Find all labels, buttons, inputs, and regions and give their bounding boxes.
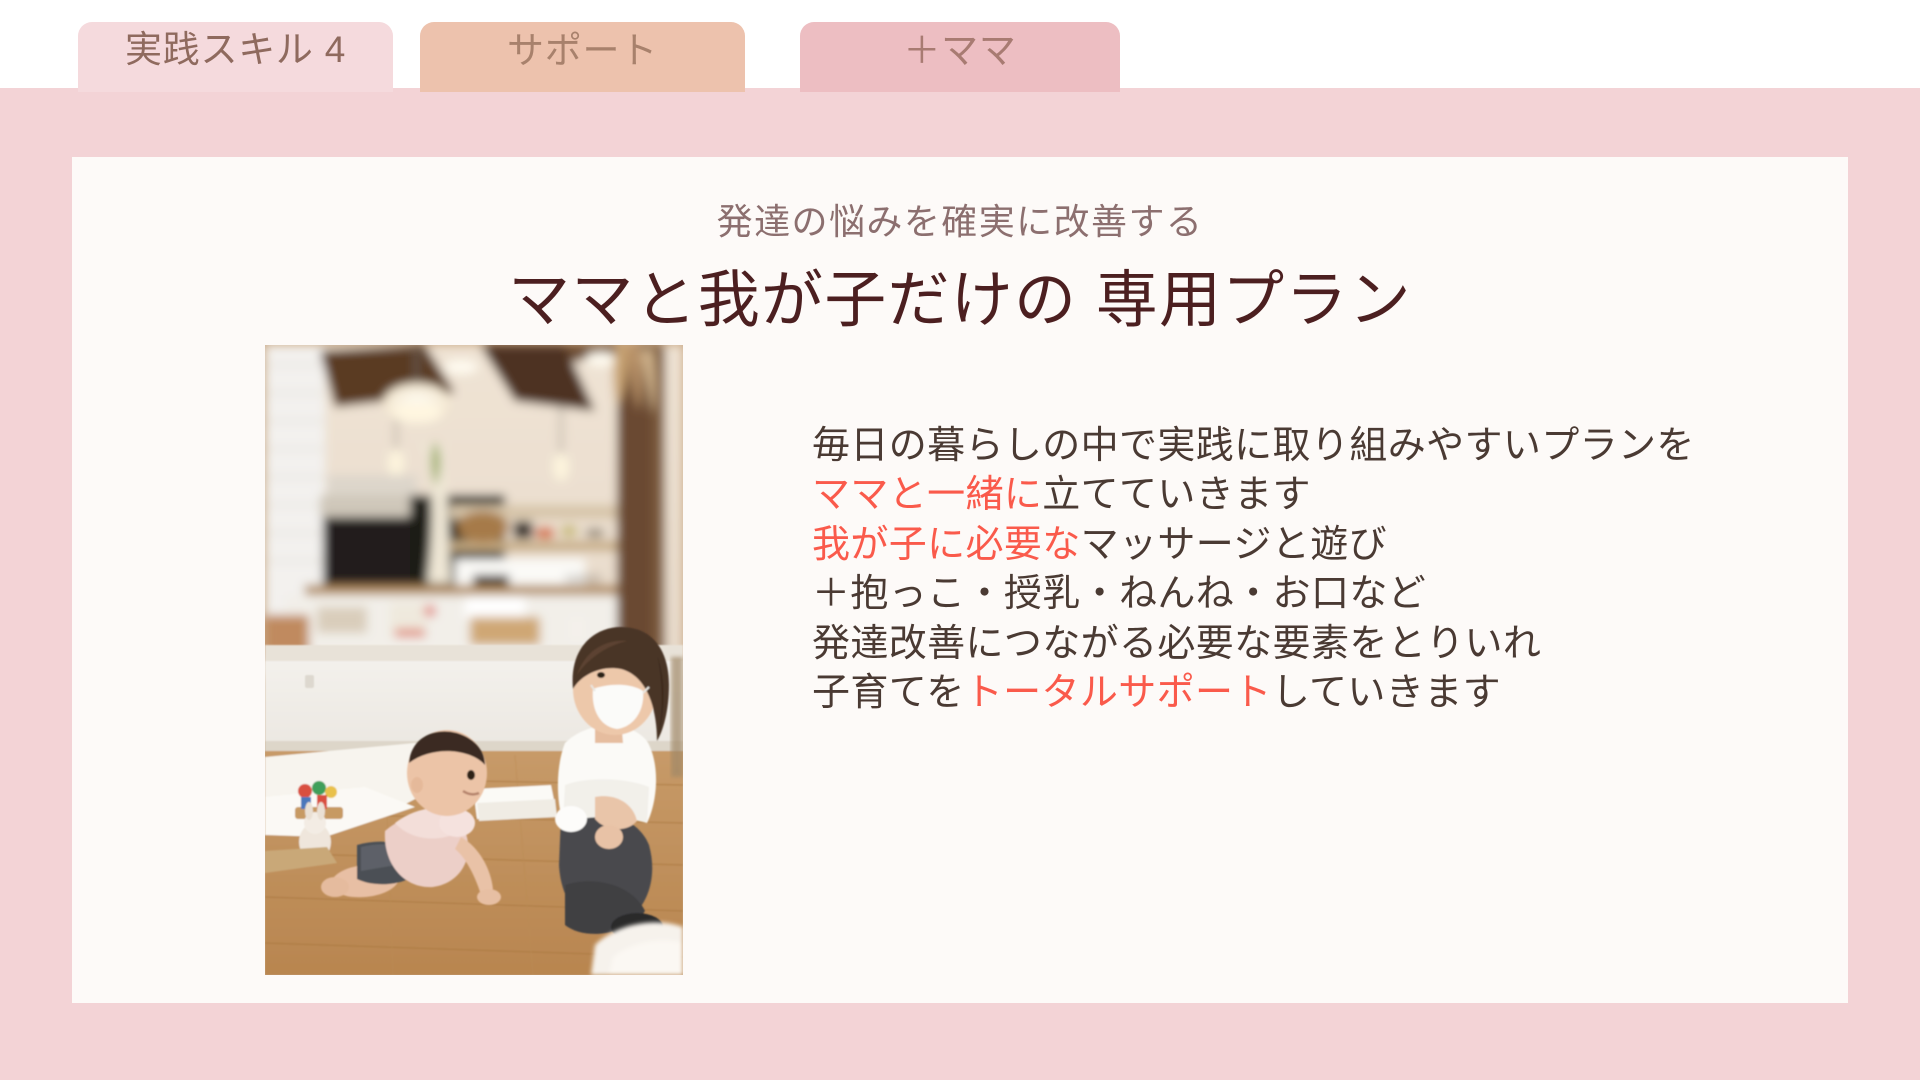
tab-label: ＋ママ: [903, 31, 1016, 71]
body-plain-text: 毎日の暮らしの中で実践に取り組みやすいプランを: [812, 425, 1695, 467]
tab-plus-mama[interactable]: ＋ママ: [800, 22, 1120, 92]
body-line: 我が子に必要なマッサージと遊び: [812, 521, 1822, 570]
body-line: 子育てをトータルサポートしていきます: [812, 669, 1822, 718]
photo-mother-and-baby: HAND: [265, 345, 683, 975]
body-highlight-text: トータルサポート: [965, 672, 1272, 714]
content-card: 発達の悩みを確実に改善する ママと我が子だけの 専用プラン: [72, 157, 1848, 1003]
body-line: ＋抱っこ・授乳・ねんね・お口など: [812, 570, 1822, 619]
tab-label: 実践スキル 4: [125, 30, 346, 70]
body-plain-text: 子育てを: [812, 672, 965, 714]
slide-root: 実践スキル 4 サポート ＋ママ 発達の悩みを確実に改善する ママと我が子だけの…: [0, 0, 1920, 1080]
tab-jissen-skill-4[interactable]: 実践スキル 4: [78, 22, 393, 92]
card-subtitle: 発達の悩みを確実に改善する: [72, 193, 1848, 245]
tab-label: サポート: [507, 31, 658, 71]
body-plain-text: マッサージと遊び: [1081, 524, 1387, 566]
body-line: 発達改善につながる必要な要素をとりいれ: [812, 620, 1822, 669]
body-plain-text: 発達改善につながる必要な要素をとりいれ: [812, 623, 1541, 665]
body-plain-text: していきます: [1272, 672, 1501, 714]
body-plain-text: 立てていきます: [1042, 474, 1311, 516]
body-text: 毎日の暮らしの中で実践に取り組みやすいプランをママと一緒に立てていきます我が子に…: [812, 422, 1822, 718]
body-highlight-text: 我が子に必要な: [812, 524, 1081, 566]
tab-bar: 実践スキル 4 サポート ＋ママ: [0, 0, 1920, 92]
svg-text:HAND: HAND: [565, 571, 602, 586]
body-plain-text: ＋抱っこ・授乳・ねんね・お口など: [812, 573, 1426, 615]
body-line: ママと一緒に立てていきます: [812, 471, 1822, 520]
card-title: ママと我が子だけの 専用プラン: [72, 249, 1848, 339]
tab-support[interactable]: サポート: [420, 22, 745, 92]
body-line: 毎日の暮らしの中で実践に取り組みやすいプランを: [812, 422, 1822, 471]
body-highlight-text: ママと一緒に: [812, 474, 1042, 516]
